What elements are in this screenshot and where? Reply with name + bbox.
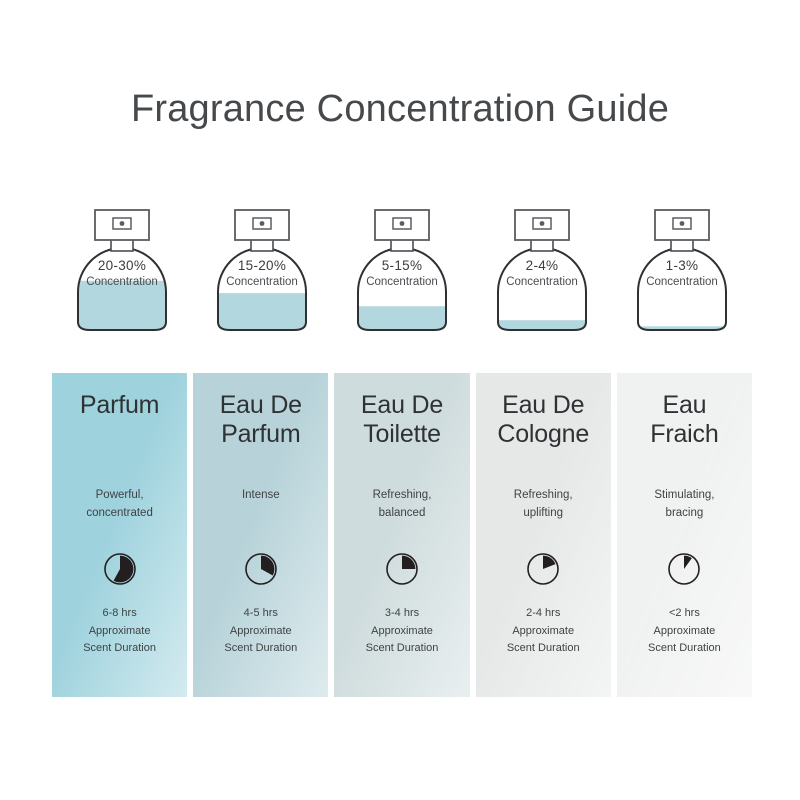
duration-clock bbox=[101, 549, 139, 589]
sprayer-nozzle-icon bbox=[540, 221, 545, 226]
duration-caption-line: Approximate bbox=[507, 623, 580, 641]
text-line: Intense bbox=[242, 487, 280, 505]
duration-clock bbox=[383, 549, 421, 589]
clock-pie-icon bbox=[383, 550, 421, 588]
text-line: bracing bbox=[654, 505, 714, 523]
duration-block: 4-5 hrsApproximateScent Duration bbox=[224, 605, 297, 658]
fragrance-card-5[interactable]: EauFraichStimulating,bracing<2 hrsApprox… bbox=[617, 373, 752, 697]
fragrance-description: Refreshing,uplifting bbox=[514, 487, 573, 523]
sprayer-nozzle-icon bbox=[680, 221, 685, 226]
perfume-bottle-icon bbox=[74, 200, 170, 352]
duration-caption-line: Scent Duration bbox=[83, 640, 156, 658]
duration-clock bbox=[665, 549, 703, 589]
text-line: Eau De bbox=[220, 391, 302, 420]
fragrance-card-2[interactable]: Eau DeParfumIntense4-5 hrsApproximateSce… bbox=[193, 373, 328, 697]
duration-clock bbox=[242, 549, 280, 589]
text-line: balanced bbox=[373, 505, 432, 523]
text-line: Eau De bbox=[361, 391, 443, 420]
sprayer-nozzle-icon bbox=[120, 221, 125, 226]
perfume-bottle-icon bbox=[634, 200, 730, 352]
bottle-liquid bbox=[354, 306, 450, 330]
sprayer-nozzle-icon bbox=[400, 221, 405, 226]
fragrance-description: Intense bbox=[242, 487, 280, 523]
clock-pie-icon bbox=[101, 550, 139, 588]
duration-caption-line: Approximate bbox=[648, 623, 721, 641]
duration-clock bbox=[524, 549, 562, 589]
duration-caption-line: Scent Duration bbox=[507, 640, 580, 658]
bottle-row: 20-30%Concentration15-20%Concentration5-… bbox=[52, 200, 752, 360]
fragrance-description: Stimulating,bracing bbox=[654, 487, 714, 523]
duration-caption-line: Scent Duration bbox=[224, 640, 297, 658]
duration-caption-line: Approximate bbox=[224, 623, 297, 641]
fragrance-name: Eau DeCologne bbox=[497, 391, 589, 453]
duration-hours: 4-5 hrs bbox=[224, 605, 297, 623]
duration-caption-line: Approximate bbox=[366, 623, 439, 641]
bottle-item-3: 5-15%Concentration bbox=[332, 200, 472, 360]
text-line: Eau De bbox=[497, 391, 589, 420]
clock-pie-icon bbox=[242, 550, 280, 588]
duration-hours: 6-8 hrs bbox=[83, 605, 156, 623]
text-line: Refreshing, bbox=[373, 487, 432, 505]
fragrance-card-3[interactable]: Eau DeToiletteRefreshing,balanced3-4 hrs… bbox=[334, 373, 469, 697]
text-line: Fraich bbox=[650, 420, 718, 449]
duration-block: 2-4 hrsApproximateScent Duration bbox=[507, 605, 580, 658]
bottle-outline bbox=[638, 248, 726, 330]
perfume-bottle-icon bbox=[494, 200, 590, 352]
card-row: ParfumPowerful,concentrated6-8 hrsApprox… bbox=[52, 373, 752, 697]
fragrance-name: Parfum bbox=[80, 391, 159, 453]
page-title: Fragrance Concentration Guide bbox=[0, 88, 800, 131]
clock-wedge bbox=[113, 556, 133, 583]
bottle-liquid bbox=[74, 281, 170, 330]
bottle-liquid bbox=[214, 293, 310, 330]
fragrance-name: Eau DeParfum bbox=[220, 391, 302, 453]
fragrance-concentration-infographic: Fragrance Concentration Guide 20-30%Conc… bbox=[0, 0, 800, 800]
perfume-bottle-icon bbox=[354, 200, 450, 352]
text-line: Cologne bbox=[497, 420, 589, 449]
clock-wedge bbox=[684, 556, 692, 569]
text-line: Stimulating, bbox=[654, 487, 714, 505]
text-line: Eau bbox=[650, 391, 718, 420]
duration-block: <2 hrsApproximateScent Duration bbox=[648, 605, 721, 658]
bottle-item-5: 1-3%Concentration bbox=[612, 200, 752, 360]
clock-pie-icon bbox=[665, 550, 703, 588]
text-line: Toilette bbox=[361, 420, 443, 449]
duration-block: 3-4 hrsApproximateScent Duration bbox=[366, 605, 439, 658]
text-line: Parfum bbox=[220, 420, 302, 449]
bottle-item-1: 20-30%Concentration bbox=[52, 200, 192, 360]
fragrance-description: Refreshing,balanced bbox=[373, 487, 432, 523]
duration-hours: 3-4 hrs bbox=[366, 605, 439, 623]
bottle-item-4: 2-4%Concentration bbox=[472, 200, 612, 360]
text-line: Powerful, bbox=[86, 487, 153, 505]
fragrance-name: Eau DeToilette bbox=[361, 391, 443, 453]
duration-hours: <2 hrs bbox=[648, 605, 721, 623]
bottle-item-2: 15-20%Concentration bbox=[192, 200, 332, 360]
duration-caption-line: Scent Duration bbox=[648, 640, 721, 658]
sprayer-nozzle-icon bbox=[260, 221, 265, 226]
duration-hours: 2-4 hrs bbox=[507, 605, 580, 623]
fragrance-card-4[interactable]: Eau DeCologneRefreshing,uplifting2-4 hrs… bbox=[476, 373, 611, 697]
text-line: Refreshing, bbox=[514, 487, 573, 505]
fragrance-description: Powerful,concentrated bbox=[86, 487, 153, 523]
bottle-outline bbox=[498, 248, 586, 330]
clock-pie-icon bbox=[524, 550, 562, 588]
text-line: concentrated bbox=[86, 505, 153, 523]
text-line: uplifting bbox=[514, 505, 573, 523]
bottle-liquid bbox=[494, 320, 590, 330]
duration-block: 6-8 hrsApproximateScent Duration bbox=[83, 605, 156, 658]
duration-caption-line: Scent Duration bbox=[366, 640, 439, 658]
text-line: Parfum bbox=[80, 391, 159, 420]
clock-wedge bbox=[402, 556, 415, 569]
fragrance-name: EauFraich bbox=[650, 391, 718, 453]
duration-caption-line: Approximate bbox=[83, 623, 156, 641]
fragrance-card-1[interactable]: ParfumPowerful,concentrated6-8 hrsApprox… bbox=[52, 373, 187, 697]
perfume-bottle-icon bbox=[214, 200, 310, 352]
